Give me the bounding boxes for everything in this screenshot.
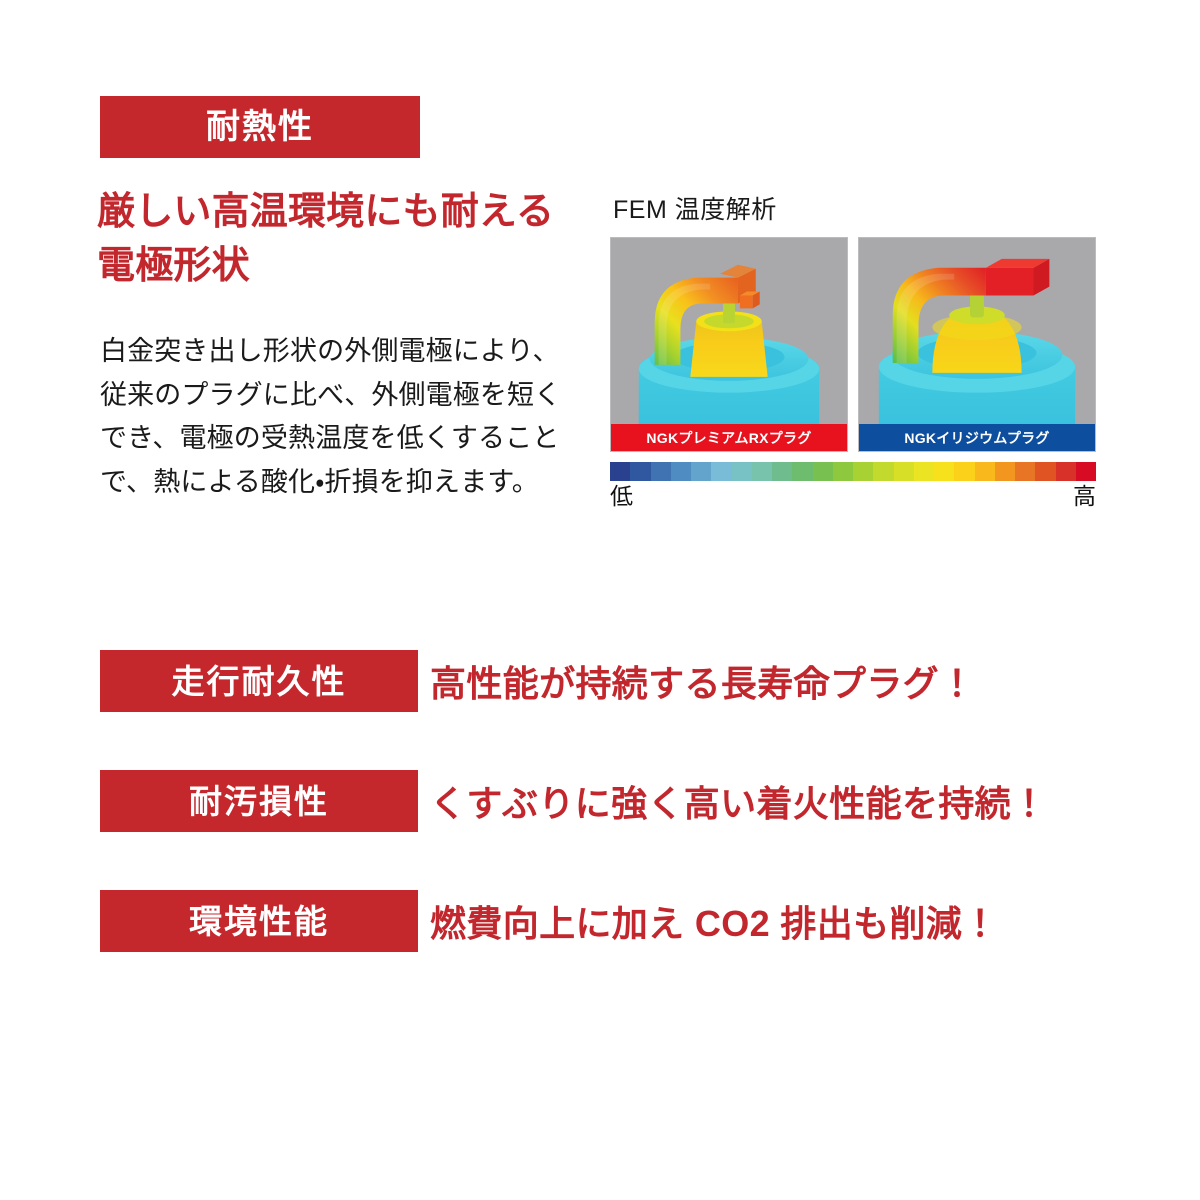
- fem-analysis-block: FEM 温度解析: [610, 198, 1096, 509]
- scale-segment-0: [610, 462, 630, 481]
- temperature-scale-labels: 低 高: [610, 484, 1096, 509]
- heat-headline: 厳しい高温環境にも耐える 電極形状: [97, 186, 597, 294]
- scale-segment-18: [975, 462, 995, 481]
- temperature-scale: 低 高: [610, 462, 1096, 509]
- fem-thermal-render-premium-rx: [611, 238, 847, 451]
- scale-segment-3: [671, 462, 691, 481]
- scale-segment-12: [853, 462, 873, 481]
- heat-headline-line-1: 厳しい高温環境にも耐える: [97, 186, 597, 240]
- scale-segment-16: [934, 462, 954, 481]
- feature-badge-environmental-performance: 環境性能: [100, 890, 418, 952]
- scale-segment-11: [833, 462, 853, 481]
- heat-body-text: 白金突き出し形状の外側電極により、 従来のプラグに比べ、外側電極を短く でき、電…: [100, 330, 590, 505]
- scale-label-low: 低: [610, 484, 633, 509]
- fem-thermal-render-iridium: [859, 238, 1095, 451]
- feature-text-environmental-performance: 燃費向上に加え CO2 排出も削減！: [430, 890, 999, 952]
- fem-caption-iridium: NGKイリジウムプラグ: [859, 424, 1095, 451]
- heat-body-line-2: 従来のプラグに比べ、外側電極を短く: [100, 374, 590, 418]
- section-badge-heat-resistance: 耐熱性: [100, 96, 420, 158]
- feature-text-fouling-resistance: くすぶりに強く高い着火性能を持続！: [430, 770, 1047, 832]
- fem-analysis-title: FEM 温度解析: [613, 198, 1096, 223]
- feature-row: 耐汚損性 くすぶりに強く高い着火性能を持続！: [100, 770, 1100, 834]
- scale-segment-8: [772, 462, 792, 481]
- scale-segment-1: [630, 462, 650, 481]
- scale-segment-13: [873, 462, 893, 481]
- feature-badge-fouling-resistance: 耐汚損性: [100, 770, 418, 832]
- scale-segment-10: [813, 462, 833, 481]
- scale-segment-23: [1076, 462, 1096, 481]
- scale-segment-4: [691, 462, 711, 481]
- scale-segment-22: [1056, 462, 1076, 481]
- scale-segment-9: [792, 462, 812, 481]
- feature-row: 走行耐久性 高性能が持続する長寿命プラグ！: [100, 650, 1100, 714]
- scale-segment-20: [1015, 462, 1035, 481]
- fem-panel-iridium: NGKイリジウムプラグ: [858, 237, 1096, 452]
- scale-segment-6: [732, 462, 752, 481]
- feature-badge-driving-durability: 走行耐久性: [100, 650, 418, 712]
- fem-panel-premium-rx: NGKプレミアムRXプラグ: [610, 237, 848, 452]
- fem-caption-premium-rx: NGKプレミアムRXプラグ: [611, 424, 847, 451]
- scale-segment-19: [995, 462, 1015, 481]
- fem-panel-group: NGKプレミアムRXプラグ: [610, 237, 1096, 452]
- feature-row: 環境性能 燃費向上に加え CO2 排出も削減！: [100, 890, 1100, 954]
- heat-body-line-3: でき、電極の受熱温度を低くすること: [100, 417, 590, 461]
- temperature-scale-bar: [610, 462, 1096, 481]
- scale-segment-17: [954, 462, 974, 481]
- feature-sheet-page: 耐熱性 厳しい高温環境にも耐える 電極形状 白金突き出し形状の外側電極により、 …: [0, 0, 1200, 1200]
- scale-segment-21: [1035, 462, 1055, 481]
- scale-label-high: 高: [1073, 484, 1096, 509]
- scale-segment-5: [711, 462, 731, 481]
- scale-segment-14: [894, 462, 914, 481]
- scale-segment-7: [752, 462, 772, 481]
- heat-body-line-1: 白金突き出し形状の外側電極により、: [100, 330, 590, 374]
- scale-segment-2: [651, 462, 671, 481]
- scale-segment-15: [914, 462, 934, 481]
- feature-text-driving-durability: 高性能が持続する長寿命プラグ！: [430, 650, 975, 712]
- heat-body-line-4: で、熱による酸化・折損を抑えます。: [100, 461, 590, 505]
- heat-headline-line-2: 電極形状: [97, 240, 597, 294]
